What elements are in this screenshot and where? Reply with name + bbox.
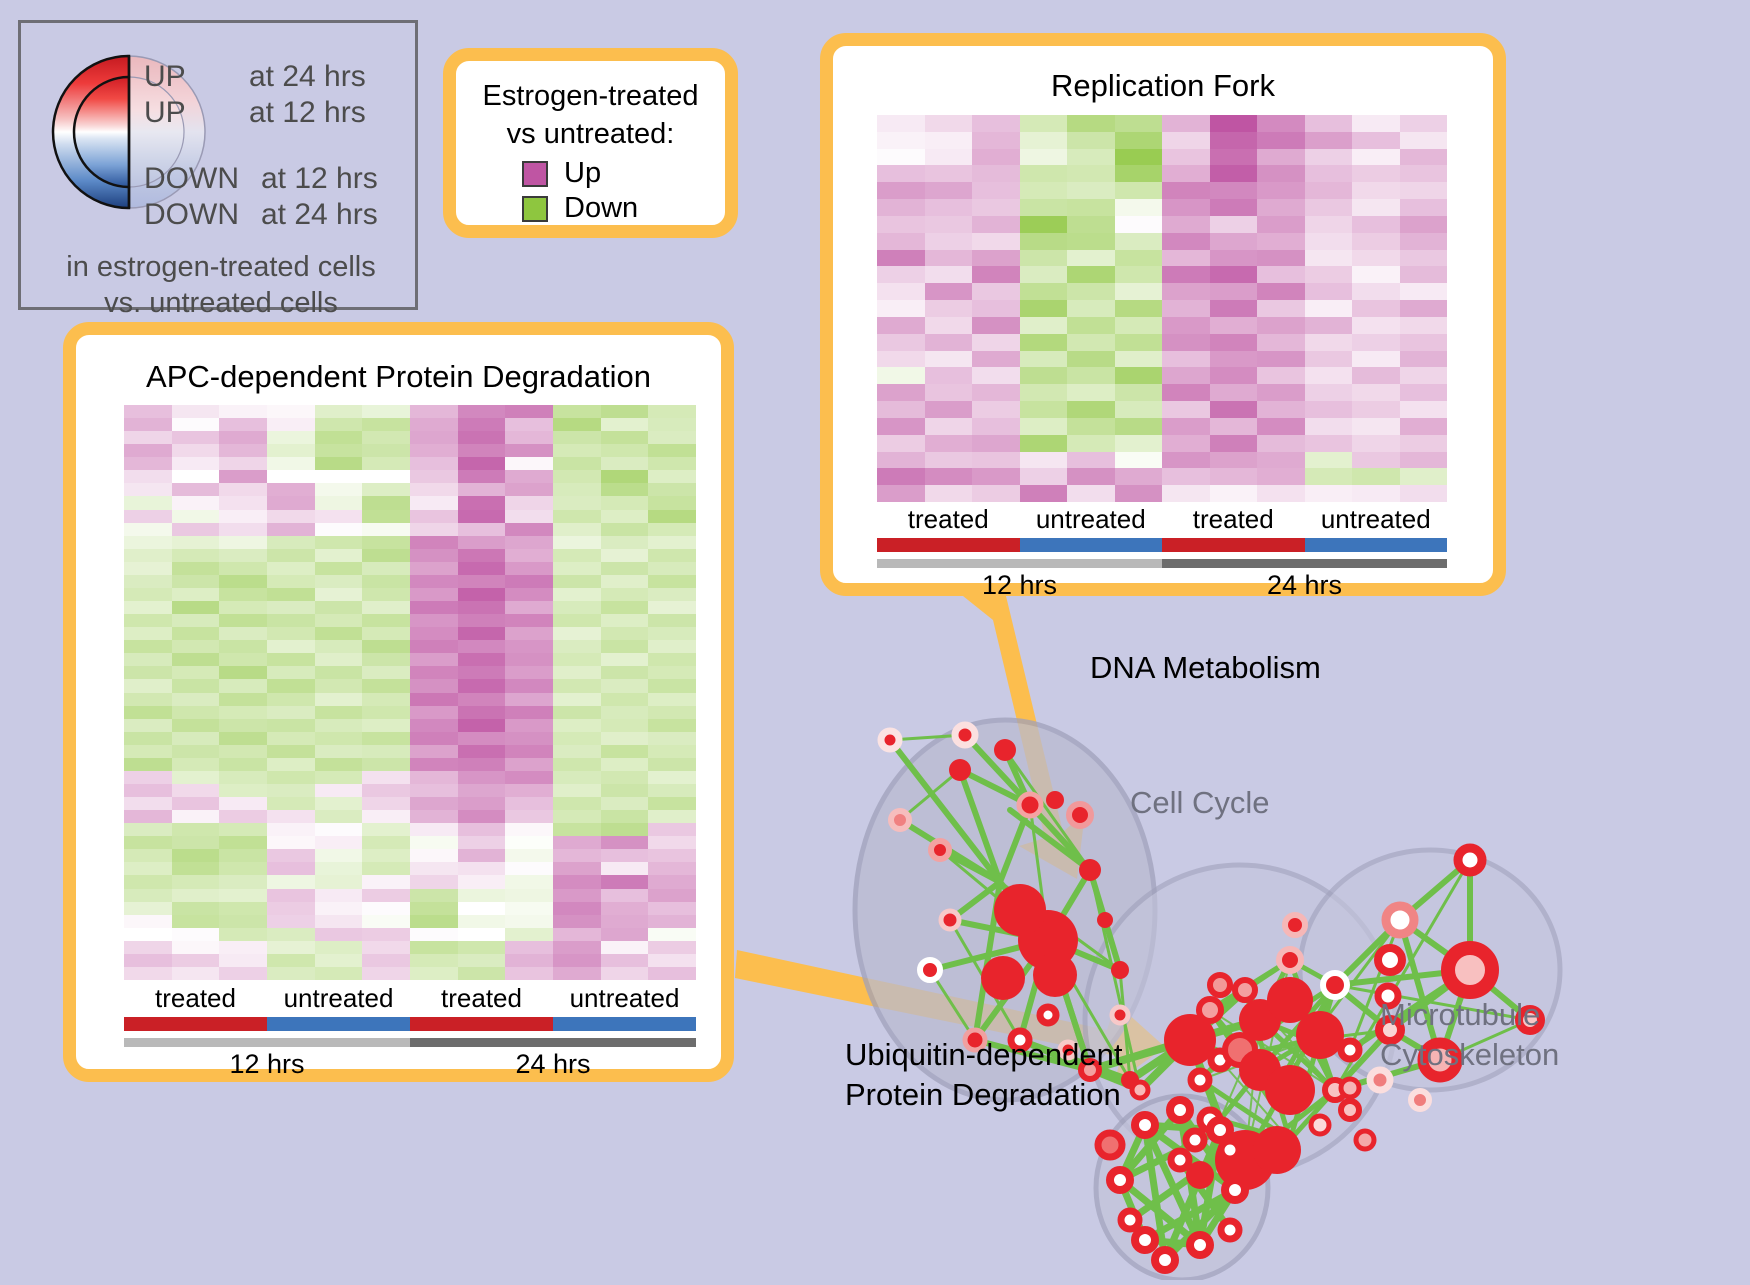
cluster-label-cell-cycle: Cell Cycle: [1130, 785, 1270, 821]
node: [1279, 949, 1301, 971]
cluster-label-ubiquitin-degradation: Ubiquitin-dependent Protein Degradation: [845, 1035, 1123, 1115]
node: [1190, 1235, 1210, 1255]
node: [1356, 1131, 1374, 1149]
node: [1033, 953, 1077, 997]
node: [1378, 948, 1402, 972]
node: [1221, 1141, 1239, 1159]
node: [1210, 1120, 1230, 1140]
node: [1040, 1007, 1056, 1023]
node: [1296, 1011, 1344, 1059]
node: [981, 956, 1025, 1000]
node: [881, 731, 899, 749]
node: [949, 759, 971, 781]
node: [1121, 1211, 1139, 1229]
figure-canvas: UP at 24 hrs UP at 12 hrs DOWN at 12 hrs…: [0, 0, 1750, 1279]
node: [920, 960, 940, 980]
node: [1098, 1133, 1122, 1157]
cluster-label-dna-metabolism: DNA Metabolism: [1090, 650, 1321, 686]
node: [1386, 906, 1414, 934]
node: [1171, 1151, 1189, 1169]
node: [1155, 1250, 1175, 1270]
node: [1210, 975, 1230, 995]
node: [1225, 1180, 1245, 1200]
cluster-label-microtubule-cytoskeleton: Microtubule Cytoskeleton: [1380, 995, 1559, 1075]
node: [1341, 1041, 1359, 1059]
node: [1111, 961, 1129, 979]
node: [1110, 1170, 1130, 1190]
node: [1221, 1221, 1239, 1239]
node: [1170, 1100, 1190, 1120]
node: [1186, 1131, 1204, 1149]
node: [1253, 1126, 1301, 1174]
node: [1341, 1079, 1359, 1097]
node: [1311, 1116, 1329, 1134]
node: [1199, 999, 1221, 1021]
node: [891, 811, 909, 829]
node: [1079, 859, 1101, 881]
node: [994, 739, 1016, 761]
node: [1448, 948, 1492, 992]
node: [1112, 1007, 1128, 1023]
node: [994, 884, 1046, 936]
network-diagram: DNA Metabolism Cell Cycle Microtubule Cy…: [790, 620, 1750, 1280]
node: [1411, 1091, 1429, 1109]
node: [1135, 1230, 1155, 1250]
node: [1458, 848, 1482, 872]
node: [1097, 912, 1113, 928]
node: [1069, 804, 1091, 826]
node: [1323, 973, 1347, 997]
node: [1341, 1101, 1359, 1119]
node: [931, 841, 949, 859]
node: [941, 911, 959, 929]
node: [1019, 794, 1041, 816]
node: [1285, 915, 1305, 935]
node: [1132, 1082, 1148, 1098]
node: [1135, 1115, 1155, 1135]
network-svg: [790, 620, 1750, 1280]
node: [1046, 791, 1064, 809]
node: [1191, 1071, 1209, 1089]
node: [1235, 980, 1255, 1000]
node: [955, 725, 975, 745]
node: [1265, 1065, 1315, 1115]
